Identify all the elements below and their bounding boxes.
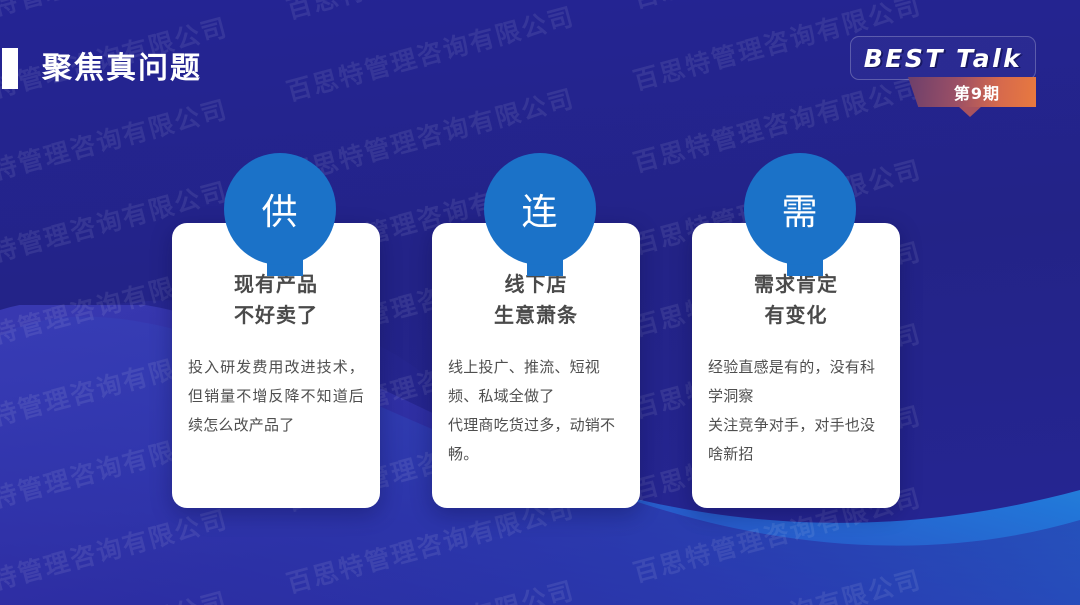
logo-ribbon-tail-icon xyxy=(958,106,982,117)
card-heading: 需求肯定 有变化 xyxy=(708,269,884,331)
card-heading: 现有产品 不好卖了 xyxy=(188,269,364,331)
card-description: 投入研发费用改进技术，但销量不增反降不知道后续怎么改产品了 xyxy=(188,353,364,440)
card-description-line: 经验直感是有的，没有科学洞察 xyxy=(708,353,884,411)
card-supply[interactable]: 现有产品 不好卖了 投入研发费用改进技术，但销量不增反降不知道后续怎么改产品了 … xyxy=(172,153,380,508)
page-title: 聚焦真问题 xyxy=(42,47,202,90)
card-heading-line: 有变化 xyxy=(708,300,884,331)
slide-root: 百思特管理咨询有限公司百思特管理咨询有限公司百思特管理咨询有限公司 百思特管理咨… xyxy=(0,0,1080,605)
card-demand[interactable]: 需求肯定 有变化 经验直感是有的，没有科学洞察 关注竞争对手，对手也没啥新招 需 xyxy=(692,153,900,508)
speech-bubble-icon: 连 xyxy=(484,153,596,265)
card-heading: 线下店 生意萧条 xyxy=(448,269,624,331)
card-connect[interactable]: 线下店 生意萧条 线上投广、推流、短视频、私域全做了 代理商吃货过多，动销不畅。… xyxy=(432,153,640,508)
logo-episode-ribbon: 第9期 xyxy=(908,77,1036,107)
speech-bubble-icon: 需 xyxy=(744,153,856,265)
title-accent-bar xyxy=(2,48,18,89)
card-group: 现有产品 不好卖了 投入研发费用改进技术，但销量不增反降不知道后续怎么改产品了 … xyxy=(172,153,952,513)
logo-brand-text: BEST Talk xyxy=(850,36,1036,80)
brand-logo: BEST Talk 第9期 xyxy=(850,36,1036,116)
card-heading-line: 生意萧条 xyxy=(448,300,624,331)
card-description-line: 关注竞争对手，对手也没啥新招 xyxy=(708,411,884,469)
card-heading-line: 不好卖了 xyxy=(188,300,364,331)
bubble-label: 供 xyxy=(224,153,336,265)
bubble-label: 连 xyxy=(484,153,596,265)
bubble-label: 需 xyxy=(744,153,856,265)
card-description-line: 代理商吃货过多，动销不畅。 xyxy=(448,411,624,469)
card-description: 经验直感是有的，没有科学洞察 关注竞争对手，对手也没啥新招 xyxy=(708,353,884,469)
speech-bubble-icon: 供 xyxy=(224,153,336,265)
logo-episode-text: 第9期 xyxy=(944,80,1000,104)
card-description: 线上投广、推流、短视频、私域全做了 代理商吃货过多，动销不畅。 xyxy=(448,353,624,469)
card-description-line: 投入研发费用改进技术，但销量不增反降不知道后续怎么改产品了 xyxy=(188,353,364,440)
card-description-line: 线上投广、推流、短视频、私域全做了 xyxy=(448,353,624,411)
